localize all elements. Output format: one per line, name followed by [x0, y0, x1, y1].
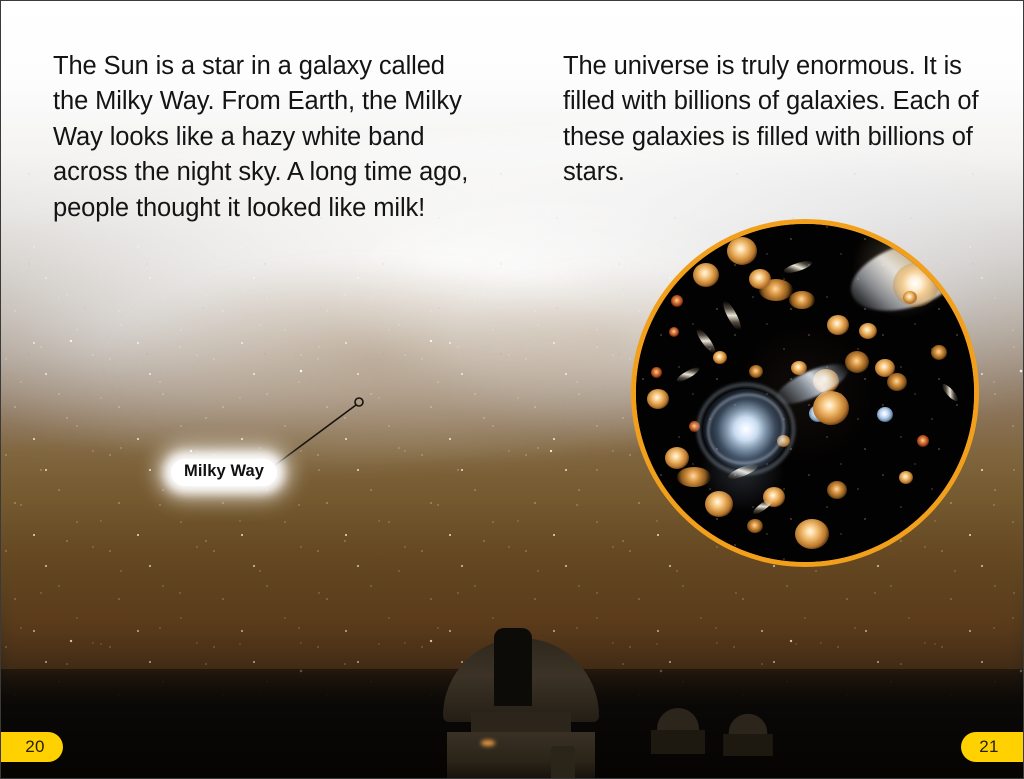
galaxy-blob	[845, 351, 869, 373]
galaxy-blob	[877, 407, 893, 422]
galaxy-blob	[665, 447, 689, 469]
galaxy-blob	[827, 481, 847, 499]
galaxy-blob	[795, 519, 829, 549]
right-page-paragraph: The universe is truly enormous. It is fi…	[563, 49, 983, 191]
galaxy-blob	[705, 491, 733, 517]
galaxy-blob	[789, 291, 815, 309]
observatory-dome-main	[431, 628, 611, 778]
observatory-dome-secondary-2	[721, 714, 774, 754]
galaxy-blob	[727, 237, 757, 265]
deep-field-galaxy-inset	[631, 219, 979, 567]
galaxy-blob	[677, 467, 711, 487]
galaxy-blob	[671, 295, 683, 307]
galaxy-blob	[669, 327, 679, 337]
dome-slit	[494, 628, 532, 706]
page-number-badge-left: 20	[1, 732, 63, 762]
galaxy-blob	[647, 389, 669, 409]
milky-way-callout: Milky Way	[151, 386, 411, 506]
deep-field-image	[631, 219, 979, 567]
right-page-text-column: The universe is truly enormous. It is fi…	[563, 49, 983, 191]
galaxy-blob	[859, 323, 877, 339]
milky-way-label: Milky Way	[171, 459, 277, 486]
callout-leader-line-icon	[151, 386, 411, 506]
galaxy-blob	[713, 351, 727, 364]
page-number-badge-right: 21	[961, 732, 1023, 762]
galaxy-blob	[903, 291, 917, 304]
observatory-lamp	[481, 740, 495, 746]
galaxy-blob	[693, 263, 719, 287]
galaxy-blob	[917, 435, 929, 447]
observatory-dome-secondary-1	[649, 708, 707, 752]
dome-base	[723, 734, 773, 756]
left-page-paragraph: The Sun is a star in a galaxy called the…	[53, 49, 473, 226]
galaxy-blob	[749, 365, 763, 378]
galaxy-blob	[899, 471, 913, 484]
book-page-spread: Milky Way	[0, 0, 1024, 779]
galaxy-blob	[747, 519, 763, 533]
galaxy-blob	[749, 269, 771, 289]
observatory-tower	[551, 746, 575, 778]
galaxy-blob	[827, 315, 849, 335]
galaxy-blob	[651, 367, 662, 378]
dome-base	[651, 730, 705, 754]
left-page-text-column: The Sun is a star in a galaxy called the…	[53, 49, 473, 226]
galaxy-blob	[813, 391, 849, 425]
galaxy-blob	[887, 373, 907, 391]
galaxy-blob	[931, 345, 947, 360]
